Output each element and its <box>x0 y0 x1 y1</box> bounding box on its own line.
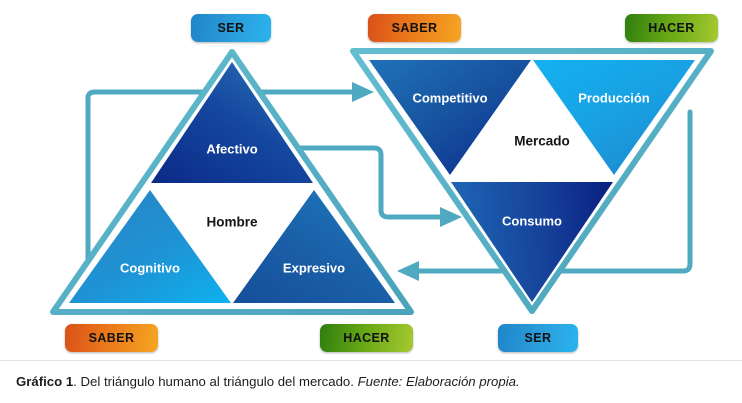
competitivo-label: Competitivo <box>412 90 487 105</box>
arrowhead-expresivo <box>397 261 419 281</box>
badge-hacer-top[interactable]: HACER <box>625 14 718 42</box>
figure-caption-row: Gráfico 1. Del triángulo humano al trián… <box>0 360 742 403</box>
caption-body: . Del triángulo humano al triángulo del … <box>73 374 357 389</box>
figure-caption: Gráfico 1. Del triángulo humano al trián… <box>16 373 520 390</box>
badge-ser-bottom[interactable]: SER <box>498 324 578 352</box>
badge-hacer-left[interactable]: HACER <box>320 324 413 352</box>
caption-source: Fuente: Elaboración propia. <box>358 374 520 389</box>
afectivo-label: Afectivo <box>206 141 257 156</box>
diagram-svg: Afectivo Cognitivo Expresivo Hombre Comp… <box>0 0 742 360</box>
consumo-shape[interactable] <box>451 182 613 302</box>
badge-ser-top[interactable]: SER <box>191 14 271 42</box>
cognitivo-label: Cognitivo <box>120 260 180 275</box>
consumo-label: Consumo <box>502 213 562 228</box>
figure-container: Afectivo Cognitivo Expresivo Hombre Comp… <box>0 0 742 403</box>
expresivo-label: Expresivo <box>283 260 345 275</box>
node-consumo[interactable]: Consumo <box>451 182 613 302</box>
produccion-label: Producción <box>578 90 650 105</box>
node-afectivo[interactable]: Afectivo <box>151 62 313 183</box>
arrowhead-competitivo <box>352 82 374 102</box>
badge-saber-top[interactable]: SABER <box>368 14 461 42</box>
caption-number: Gráfico 1 <box>16 374 73 389</box>
arrowhead-consumo <box>440 207 462 227</box>
diagram-canvas: Afectivo Cognitivo Expresivo Hombre Comp… <box>0 0 742 360</box>
badge-saber-left[interactable]: SABER <box>65 324 158 352</box>
market-center-label: Mercado <box>514 134 570 149</box>
afectivo-shape[interactable] <box>151 62 313 183</box>
human-center-label: Hombre <box>206 215 257 230</box>
